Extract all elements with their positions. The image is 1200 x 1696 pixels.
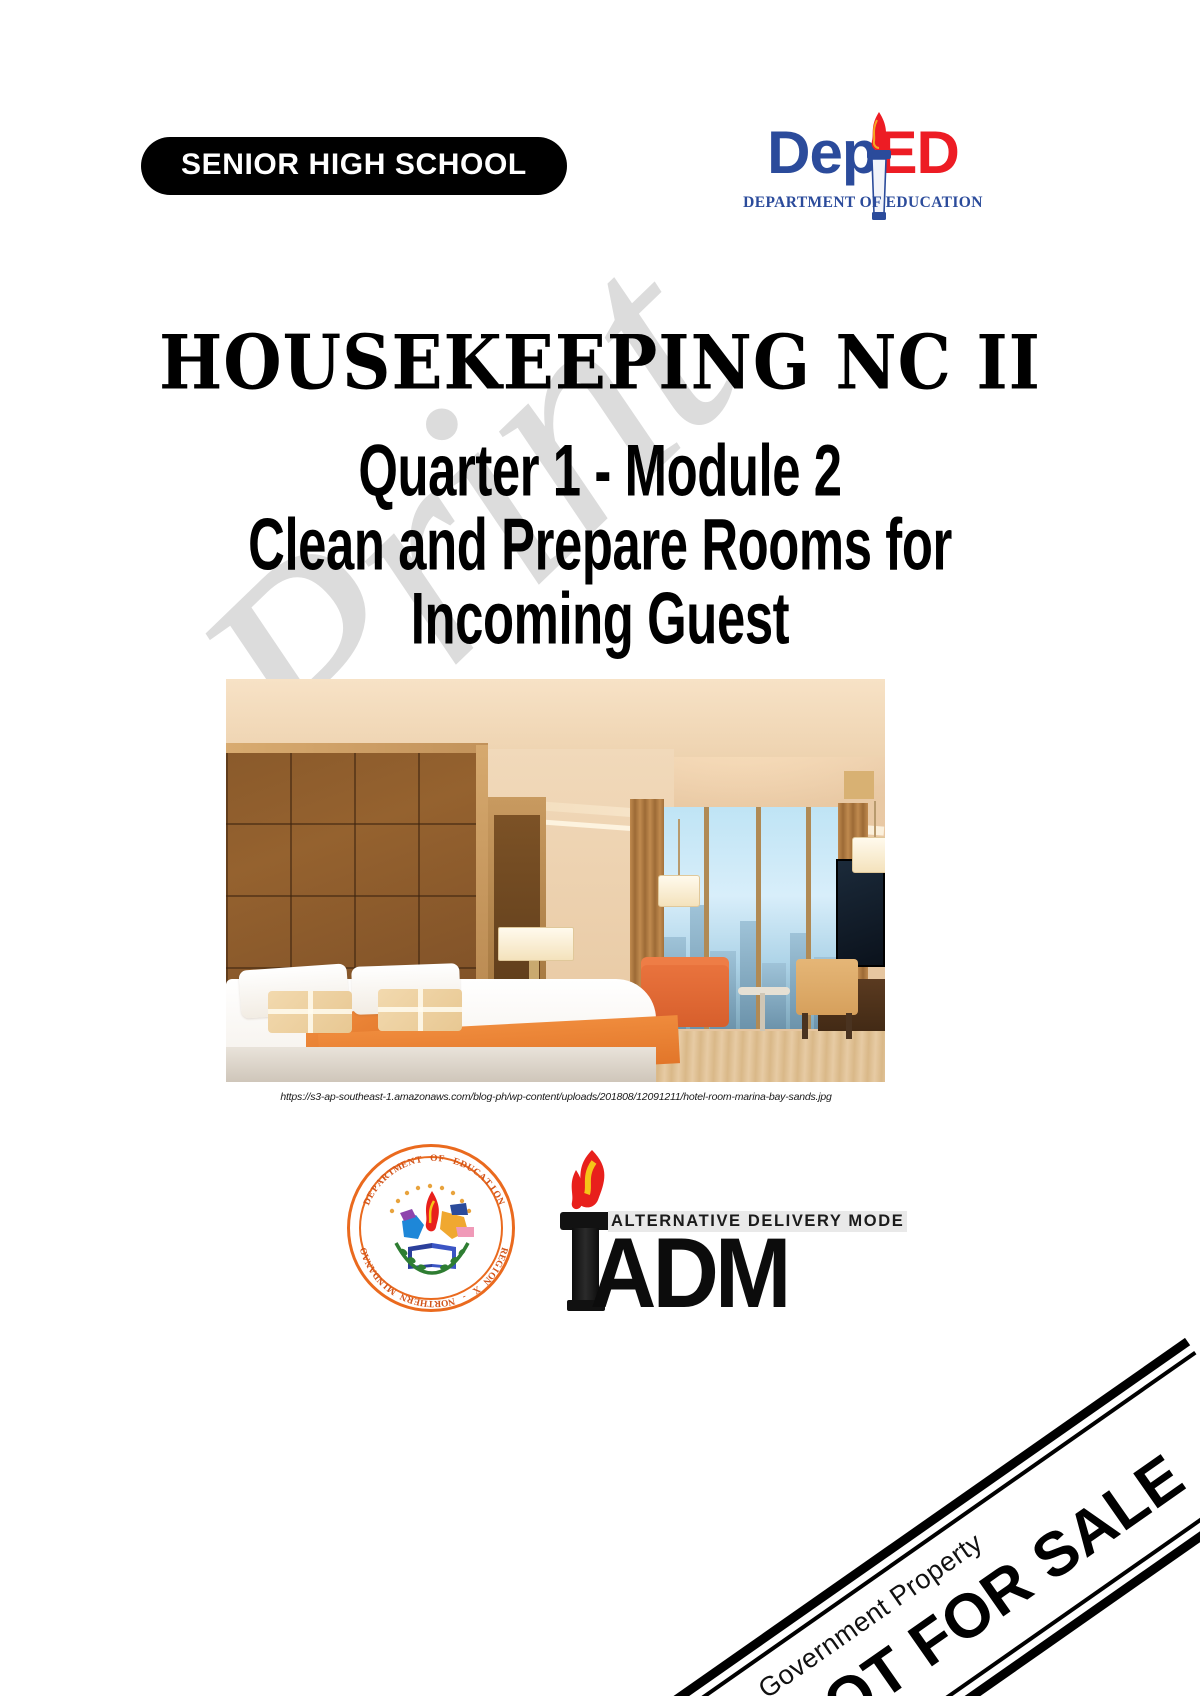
deped-logo: DepED DEPARTMENT OF EDUCATION bbox=[718, 104, 1008, 222]
cover-image bbox=[226, 679, 885, 1082]
page-title: HOUSEKEEPING NC II bbox=[0, 318, 1200, 408]
document-cover-page: Print SENIOR HIGH SCHOOL DepED DEPARTMEN… bbox=[0, 0, 1200, 1696]
deped-region-x-seal: DEPARTMENT OF EDUCATION REGION X - NORTH… bbox=[347, 1144, 515, 1312]
title-block: HOUSEKEEPING NC II Quarter 1 - Module 2 … bbox=[0, 318, 1200, 650]
image-source-caption: https://s3-ap-southeast-1.amazonaws.com/… bbox=[226, 1091, 886, 1103]
footer-logos: DEPARTMENT OF EDUCATION REGION X - NORTH… bbox=[0, 1130, 1200, 1330]
adm-acronym: ADM bbox=[590, 1228, 788, 1319]
page-header: SENIOR HIGH SCHOOL DepED DEPARTMENT OF E… bbox=[0, 0, 1200, 260]
torch-flame-icon bbox=[558, 1148, 616, 1220]
adm-logo: ALTERNATIVE DELIVERY MODE ADM bbox=[540, 1148, 778, 1308]
deped-tagline: DEPARTMENT OF EDUCATION bbox=[718, 194, 1008, 212]
not-for-sale-banner: Government Property NOT FOR SALE bbox=[589, 1305, 1200, 1696]
track-badge: SENIOR HIGH SCHOOL bbox=[141, 137, 567, 195]
subtitle-block: Quarter 1 - Module 2 Clean and Prepare R… bbox=[0, 428, 1200, 650]
seal-emblem-icon bbox=[378, 1177, 488, 1277]
subtitle-line-3: Incoming Guest bbox=[108, 576, 1092, 663]
hotel-room-illustration bbox=[226, 679, 885, 1082]
